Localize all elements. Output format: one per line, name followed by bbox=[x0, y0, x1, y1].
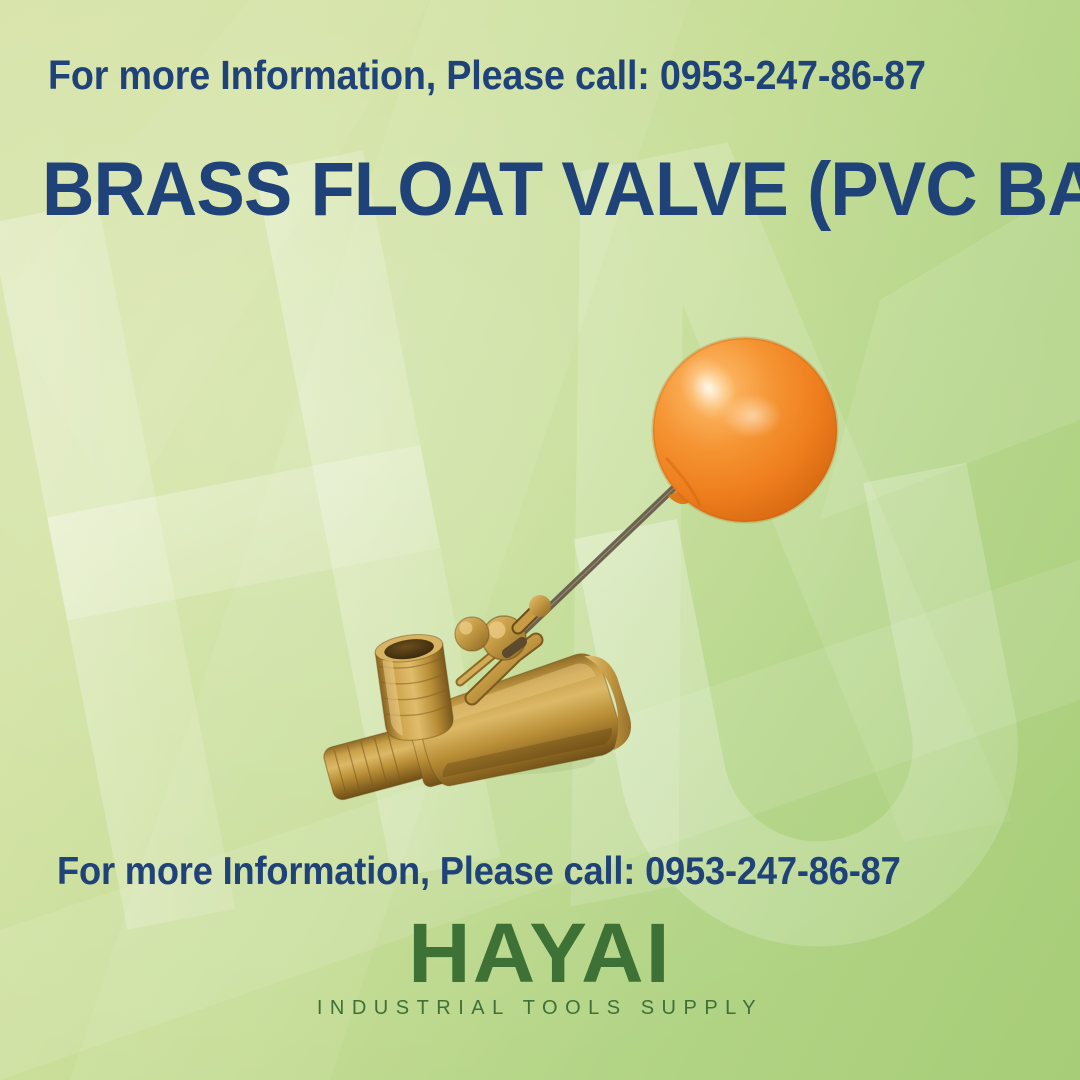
valve-body bbox=[315, 631, 637, 825]
product-image-brass-float-valve bbox=[300, 310, 860, 830]
float-rod bbox=[514, 484, 678, 641]
contact-line-bottom: For more Information, Please call: 0953-… bbox=[57, 852, 978, 891]
brand-logo: HAYAI INDUSTRIAL TOOLS SUPPLY bbox=[0, 915, 1080, 1018]
pvc-float-ball bbox=[653, 338, 837, 522]
contact-line-top: For more Information, Please call: 0953-… bbox=[48, 55, 959, 96]
logo-tagline: INDUSTRIAL TOOLS SUPPLY bbox=[0, 998, 1080, 1018]
page-title: BRASS FLOAT VALVE (PVC BALL) bbox=[42, 152, 1016, 228]
product-poster: For more Information, Please call: 0953-… bbox=[0, 0, 1080, 1080]
logo-wordmark: HAYAI bbox=[408, 915, 672, 992]
